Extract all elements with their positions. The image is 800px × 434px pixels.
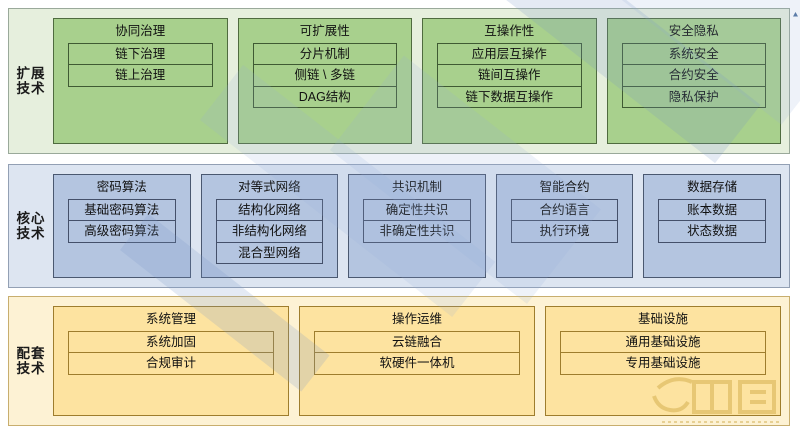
group-operations-maintenance[interactable]: 操作运维 云链融合 软硬件一体机 (299, 306, 535, 416)
list-item[interactable]: 执行环境 (512, 221, 618, 242)
list-item[interactable]: 分片机制 (254, 44, 397, 65)
list-item[interactable]: 确定性共识 (364, 200, 470, 221)
list-item[interactable]: 合约语言 (512, 200, 618, 221)
list-item[interactable]: 结构化网络 (217, 200, 323, 221)
group-interoperability[interactable]: 互操作性 应用层互操作 链间互操作 链下数据互操作 (422, 18, 597, 144)
group-data-storage[interactable]: 数据存储 账本数据 状态数据 (643, 174, 781, 278)
group-title: 智能合约 (505, 179, 625, 199)
diagram-canvas: 扩展 技术 协同治理 链下治理 链上治理 可扩展性 分片机制 侧链 \ 多链 D… (0, 0, 800, 434)
section-label-line: 技术 (17, 226, 46, 241)
group-cryptographic-algorithms[interactable]: 密码算法 基础密码算法 高级密码算法 (53, 174, 191, 278)
group-title: 系统管理 (62, 311, 280, 331)
group-consensus-mechanism[interactable]: 共识机制 确定性共识 非确定性共识 (348, 174, 486, 278)
section-label-core: 核心 技术 (9, 165, 53, 287)
section-label-extension: 扩展 技术 (9, 9, 53, 153)
list-item[interactable]: 合规审计 (69, 353, 273, 374)
group-items: 通用基础设施 专用基础设施 (560, 331, 766, 375)
group-items: 分片机制 侧链 \ 多链 DAG结构 (253, 43, 398, 108)
group-security-privacy[interactable]: 安全隐私 系统安全 合约安全 隐私保护 (607, 18, 782, 144)
group-title: 密码算法 (62, 179, 182, 199)
group-items: 结构化网络 非结构化网络 混合型网络 (216, 199, 324, 264)
group-items: 链下治理 链上治理 (68, 43, 213, 87)
list-item[interactable]: 混合型网络 (217, 243, 323, 264)
list-item[interactable]: 隐私保护 (623, 87, 766, 108)
list-item[interactable]: 状态数据 (659, 221, 765, 242)
group-items: 基础密码算法 高级密码算法 (68, 199, 176, 243)
list-item[interactable]: 链下治理 (69, 44, 212, 65)
section-columns-core: 密码算法 基础密码算法 高级密码算法 对等式网络 结构化网络 非结构化网络 混合… (53, 165, 789, 287)
list-item[interactable]: 基础密码算法 (69, 200, 175, 221)
group-items: 确定性共识 非确定性共识 (363, 199, 471, 243)
list-item[interactable]: 专用基础设施 (561, 353, 765, 374)
group-title: 协同治理 (62, 23, 219, 43)
section-label-line: 技术 (17, 361, 46, 376)
list-item[interactable]: 非结构化网络 (217, 221, 323, 242)
group-title: 可扩展性 (247, 23, 404, 43)
list-item[interactable]: 软硬件一体机 (315, 353, 519, 374)
group-items: 云链融合 软硬件一体机 (314, 331, 520, 375)
section-label-support: 配套 技术 (9, 297, 53, 425)
list-item[interactable]: 通用基础设施 (561, 332, 765, 353)
list-item[interactable]: 系统安全 (623, 44, 766, 65)
section-extension: 扩展 技术 协同治理 链下治理 链上治理 可扩展性 分片机制 侧链 \ 多链 D… (8, 8, 790, 154)
group-system-management[interactable]: 系统管理 系统加固 合规审计 (53, 306, 289, 416)
group-title: 共识机制 (357, 179, 477, 199)
group-items: 系统安全 合约安全 隐私保护 (622, 43, 767, 108)
list-item[interactable]: DAG结构 (254, 87, 397, 108)
scrollbar-up-arrow-icon[interactable] (791, 10, 800, 19)
group-items: 应用层互操作 链间互操作 链下数据互操作 (437, 43, 582, 108)
list-item[interactable]: 链间互操作 (438, 65, 581, 86)
group-infrastructure[interactable]: 基础设施 通用基础设施 专用基础设施 (545, 306, 781, 416)
group-title: 对等式网络 (210, 179, 330, 199)
group-title: 数据存储 (652, 179, 772, 199)
list-item[interactable]: 非确定性共识 (364, 221, 470, 242)
list-item[interactable]: 链下数据互操作 (438, 87, 581, 108)
list-item[interactable]: 云链融合 (315, 332, 519, 353)
section-label-line: 配套 (17, 346, 46, 361)
group-items: 账本数据 状态数据 (658, 199, 766, 243)
group-scalability[interactable]: 可扩展性 分片机制 侧链 \ 多链 DAG结构 (238, 18, 413, 144)
section-label-line: 扩展 (17, 66, 46, 81)
list-item[interactable]: 链上治理 (69, 65, 212, 86)
section-columns-extension: 协同治理 链下治理 链上治理 可扩展性 分片机制 侧链 \ 多链 DAG结构 互… (53, 9, 789, 153)
list-item[interactable]: 侧链 \ 多链 (254, 65, 397, 86)
list-item[interactable]: 高级密码算法 (69, 221, 175, 242)
group-smart-contract[interactable]: 智能合约 合约语言 执行环境 (496, 174, 634, 278)
group-peer-to-peer-network[interactable]: 对等式网络 结构化网络 非结构化网络 混合型网络 (201, 174, 339, 278)
section-support: 配套 技术 系统管理 系统加固 合规审计 操作运维 云链融合 软硬件一体机 (8, 296, 790, 426)
group-collaborative-governance[interactable]: 协同治理 链下治理 链上治理 (53, 18, 228, 144)
group-title: 操作运维 (308, 311, 526, 331)
list-item[interactable]: 系统加固 (69, 332, 273, 353)
group-title: 安全隐私 (616, 23, 773, 43)
section-label-line: 技术 (17, 81, 46, 96)
list-item[interactable]: 应用层互操作 (438, 44, 581, 65)
list-item[interactable]: 账本数据 (659, 200, 765, 221)
group-title: 基础设施 (554, 311, 772, 331)
section-core: 核心 技术 密码算法 基础密码算法 高级密码算法 对等式网络 结构化网络 非结构… (8, 164, 790, 288)
group-title: 互操作性 (431, 23, 588, 43)
section-label-line: 核心 (17, 211, 46, 226)
group-items: 合约语言 执行环境 (511, 199, 619, 243)
group-items: 系统加固 合规审计 (68, 331, 274, 375)
section-columns-support: 系统管理 系统加固 合规审计 操作运维 云链融合 软硬件一体机 基础设施 通用基… (53, 297, 789, 425)
list-item[interactable]: 合约安全 (623, 65, 766, 86)
